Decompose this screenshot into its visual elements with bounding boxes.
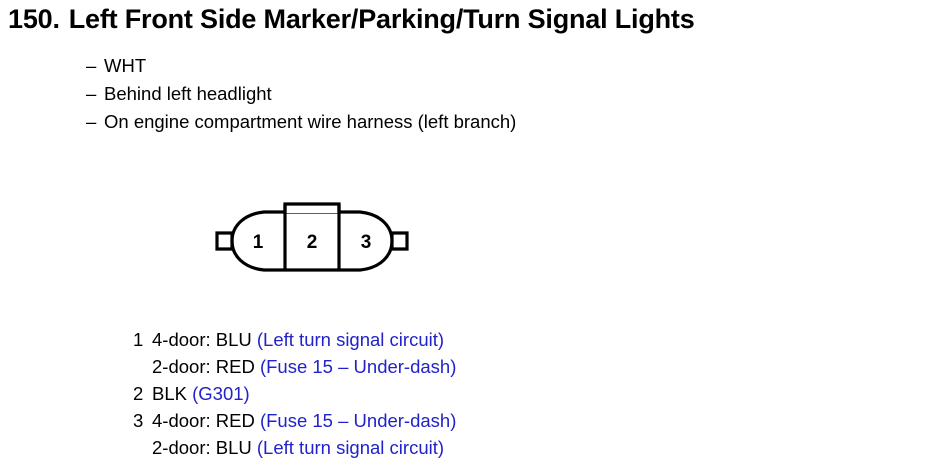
note-item: –WHT — [86, 52, 516, 80]
connector-left-tab — [217, 233, 232, 249]
legend-pin-number: 1 — [133, 326, 152, 353]
note-dash-icon: – — [86, 80, 104, 108]
legend-circuit-detail: (G301) — [192, 383, 250, 404]
note-list: –WHT –Behind left headlight –On engine c… — [86, 52, 516, 136]
note-text: WHT — [104, 55, 146, 76]
page-title: 150.Left Front Side Marker/Parking/Turn … — [8, 4, 695, 35]
legend-circuit-detail: (Left turn signal circuit) — [257, 437, 444, 458]
legend-pin-number: 2 — [133, 380, 152, 407]
legend-row: 2BLK (G301) — [133, 380, 456, 407]
legend-pin-number: 3 — [133, 407, 152, 434]
page-title-text: Left Front Side Marker/Parking/Turn Sign… — [69, 4, 695, 34]
connector-right-tab — [392, 233, 407, 249]
connector-pin-3-label: 3 — [361, 232, 372, 253]
legend-wire-label: 4-door: RED — [152, 410, 255, 431]
connector-diagram: 1 2 3 — [212, 196, 412, 291]
legend-row: 2-door: BLU (Left turn signal circuit) — [133, 434, 456, 461]
legend-wire-label: 4-door: BLU — [152, 329, 252, 350]
legend-wire-label: BLK — [152, 383, 187, 404]
note-dash-icon: – — [86, 52, 104, 80]
legend-circuit-detail: (Left turn signal circuit) — [257, 329, 444, 350]
legend-circuit-detail: (Fuse 15 – Under-dash) — [260, 356, 456, 377]
note-dash-icon: – — [86, 108, 104, 136]
page-title-number: 150. — [8, 4, 60, 34]
legend-row: 34-door: RED (Fuse 15 – Under-dash) — [133, 407, 456, 434]
wiring-connector-page: 150.Left Front Side Marker/Parking/Turn … — [0, 0, 934, 463]
connector-top-notch — [285, 204, 339, 213]
note-text: Behind left headlight — [104, 83, 272, 104]
legend-wire-label: 2-door: BLU — [152, 437, 252, 458]
connector-pin-2-label: 2 — [307, 232, 318, 253]
legend-circuit-detail: (Fuse 15 – Under-dash) — [260, 410, 456, 431]
connector-svg: 1 2 3 — [212, 196, 412, 286]
legend-row: 14-door: BLU (Left turn signal circuit) — [133, 326, 456, 353]
legend-wire-label: 2-door: RED — [152, 356, 255, 377]
legend-row: 2-door: RED (Fuse 15 – Under-dash) — [133, 353, 456, 380]
note-text: On engine compartment wire harness (left… — [104, 111, 516, 132]
note-item: –On engine compartment wire harness (lef… — [86, 108, 516, 136]
pin-legend: 14-door: BLU (Left turn signal circuit) … — [133, 326, 456, 461]
connector-pin-1-label: 1 — [253, 232, 264, 253]
note-item: –Behind left headlight — [86, 80, 516, 108]
